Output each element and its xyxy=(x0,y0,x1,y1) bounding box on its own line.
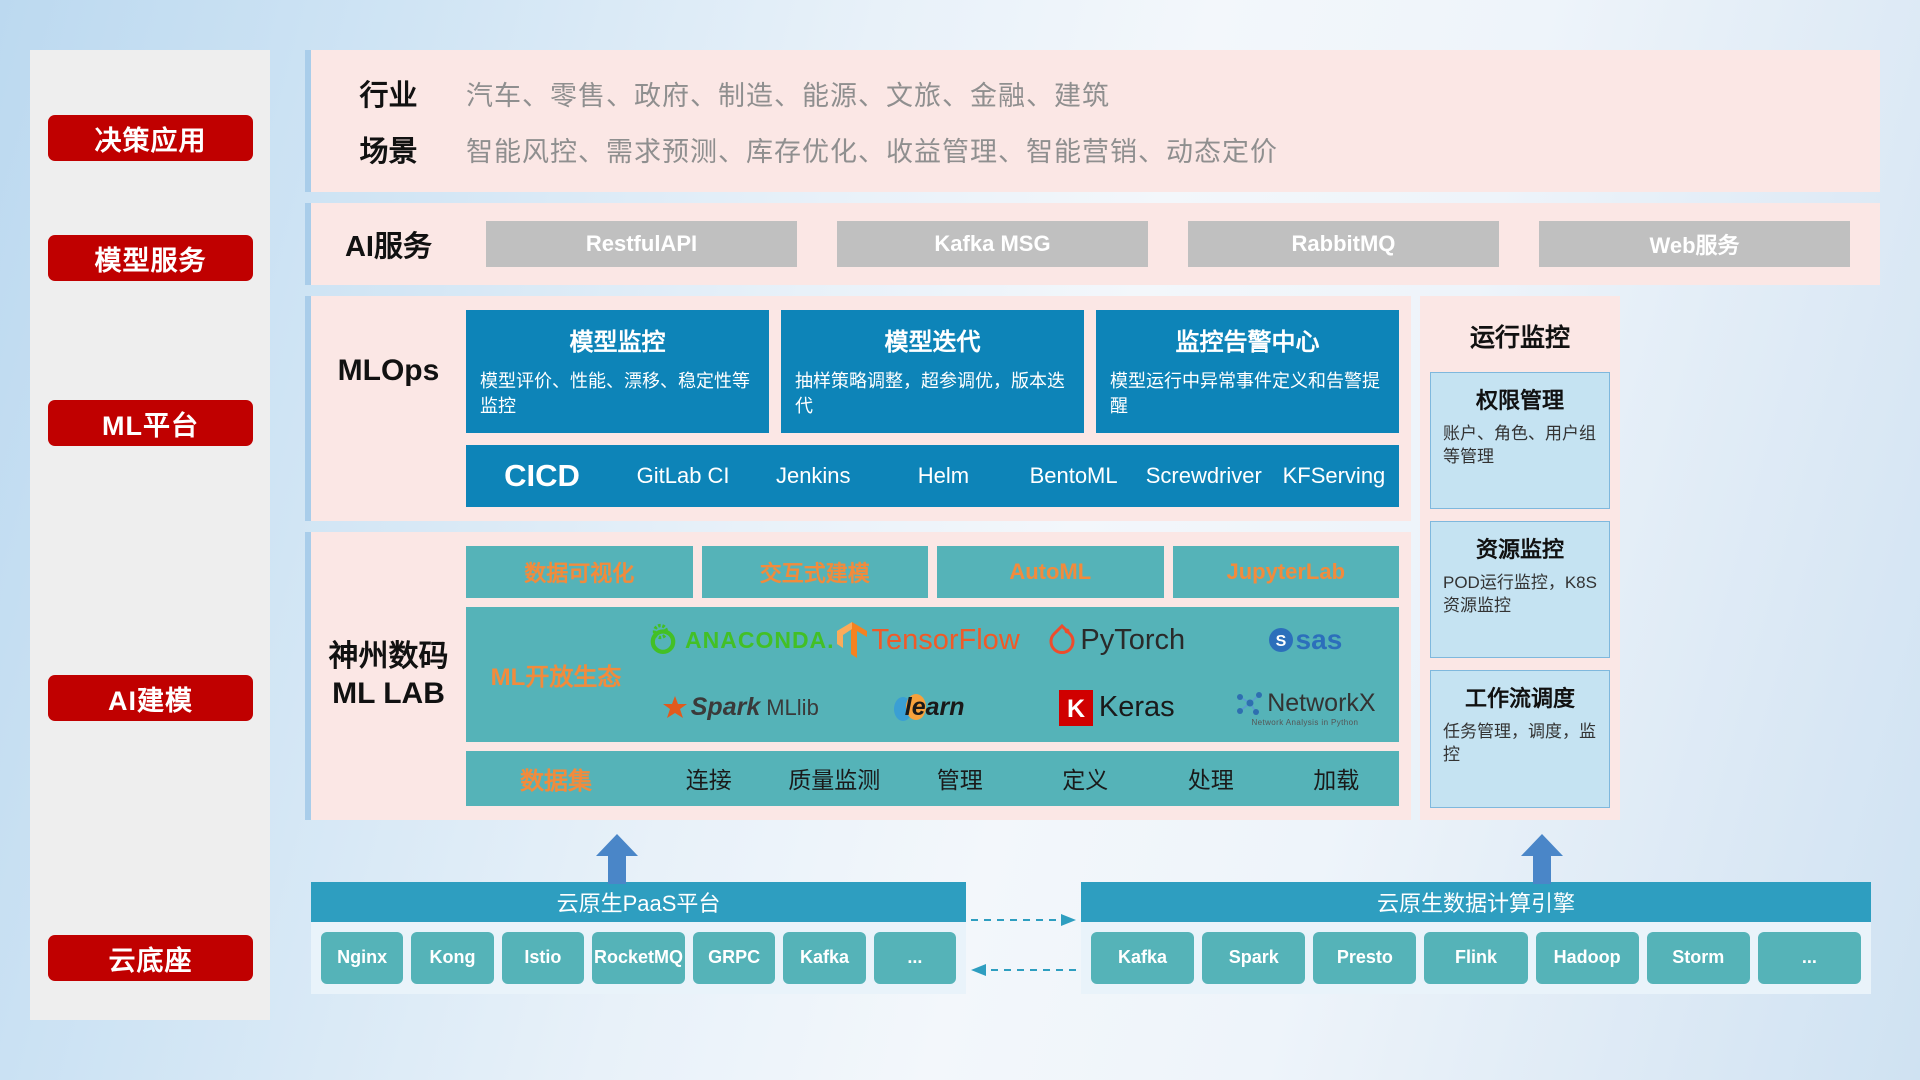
mllib-label: MLlib xyxy=(766,695,819,721)
svg-text:S: S xyxy=(1275,633,1286,650)
sas-logo: S sas xyxy=(1268,624,1343,656)
anaconda-logo: ANACONDA. xyxy=(646,623,835,657)
cloud-base-band: 云原生PaaS平台 Nginx Kong Istio RocketMQ GRPC… xyxy=(305,834,1880,994)
cicd-item[interactable]: BentoML xyxy=(1009,462,1139,490)
monitoring-card[interactable]: 资源监控 POD运行监控，K8S资源监控 xyxy=(1430,521,1610,658)
cloud-data-engine-chip-list: Kafka Spark Presto Flink Hadoop Storm ..… xyxy=(1081,922,1871,994)
cloud-chip[interactable]: Spark xyxy=(1202,932,1305,984)
band-divider xyxy=(305,192,1880,203)
mllab-tool[interactable]: 交互式建模 xyxy=(702,546,929,598)
cicd-row: CICD GitLab CI Jenkins Helm BentoML Scre… xyxy=(466,445,1399,507)
cloud-chip[interactable]: Kong xyxy=(411,932,493,984)
cicd-item[interactable]: Helm xyxy=(878,462,1008,490)
mllab-label-line2: ML LAB xyxy=(329,676,449,713)
monitoring-card[interactable]: 权限管理 账户、角色、用户组等管理 xyxy=(1430,372,1610,509)
ai-service-band: AI服务 RestfulAPI Kafka MSG RabbitMQ Web服务 xyxy=(305,203,1880,285)
monitoring-title: 运行监控 xyxy=(1430,308,1610,360)
tensorflow-logo: TensorFlow xyxy=(837,622,1019,658)
cloud-paas-chip-list: Nginx Kong Istio RocketMQ GRPC Kafka ... xyxy=(311,922,966,994)
keras-logo: K Keras xyxy=(1059,690,1175,726)
mllab-label-line1: 神州数码 xyxy=(329,639,449,676)
monitoring-card-title: 权限管理 xyxy=(1443,383,1597,415)
spark-label: Spark xyxy=(691,693,760,722)
dataset-label: 数据集 xyxy=(466,761,646,796)
mlops-card-title: 模型监控 xyxy=(480,322,755,357)
mlops-card[interactable]: 模型迭代 抽样策略调整，超参调优，版本迭代 xyxy=(781,310,1084,433)
keras-label: Keras xyxy=(1099,691,1175,724)
ml-ecosystem-panel: ML开放生态 ANACONDA. xyxy=(466,607,1399,742)
stage-label: ML平台 xyxy=(102,404,199,443)
pytorch-label: PyTorch xyxy=(1080,624,1185,657)
ai-service-chip[interactable]: Kafka MSG xyxy=(837,221,1148,267)
mllab-label: 神州数码 ML LAB xyxy=(311,546,466,806)
dataset-item[interactable]: 定义 xyxy=(1023,761,1149,795)
networkx-label: NetworkX xyxy=(1267,689,1375,718)
ai-service-chip[interactable]: RabbitMQ xyxy=(1188,221,1499,267)
cloud-chip[interactable]: Hadoop xyxy=(1536,932,1639,984)
ai-service-chip-list: RestfulAPI Kafka MSG RabbitMQ Web服务 xyxy=(466,221,1880,267)
spark-star-icon xyxy=(662,695,688,721)
cloud-data-engine-header: 云原生数据计算引擎 xyxy=(1081,882,1871,922)
cicd-item[interactable]: KFServing xyxy=(1269,462,1399,490)
ai-service-label: AI服务 xyxy=(311,223,466,265)
ai-service-chip[interactable]: RestfulAPI xyxy=(486,221,797,267)
monitoring-card[interactable]: 工作流调度 任务管理，调度，监控 xyxy=(1430,670,1610,807)
up-arrow-icon xyxy=(596,834,638,884)
networkx-icon xyxy=(1234,689,1264,717)
mllab-tool[interactable]: 数据可视化 xyxy=(466,546,693,598)
dataset-item[interactable]: 质量监测 xyxy=(772,761,898,795)
cloud-chip[interactable]: Nginx xyxy=(321,932,403,984)
ai-service-chip[interactable]: Web服务 xyxy=(1539,221,1850,267)
stage-item-decision-apps[interactable]: 决策应用 xyxy=(48,115,253,161)
mllab-tool[interactable]: AutoML xyxy=(937,546,1164,598)
cloud-link-arrows xyxy=(966,874,1081,994)
pytorch-icon xyxy=(1048,624,1076,656)
scikit-learn-logo: learn xyxy=(893,692,965,724)
mllab-row: 神州数码 ML LAB 数据可视化 交互式建模 AutoML JupyterLa… xyxy=(311,546,1411,806)
mlops-cards-row: MLOps 模型监控 模型评价、性能、漂移、稳定性等监控 模型迭代 抽样策略调整… xyxy=(311,310,1411,433)
stage-label: 决策应用 xyxy=(95,119,207,158)
ml-ecosystem-logo-grid: ANACONDA. TensorFlow xyxy=(646,607,1399,742)
application-row-industry: 行业 汽车、零售、政府、制造、能源、文旅、金融、建筑 xyxy=(311,72,1880,114)
ml-ecosystem-label: ML开放生态 xyxy=(466,657,646,692)
mlops-block: MLOps 模型监控 模型评价、性能、漂移、稳定性等监控 模型迭代 抽样策略调整… xyxy=(305,296,1411,521)
tensorflow-icon xyxy=(837,622,867,658)
cicd-item[interactable]: Jenkins xyxy=(748,462,878,490)
svg-text:K: K xyxy=(1067,695,1085,723)
monitoring-panel: 运行监控 权限管理 账户、角色、用户组等管理 资源监控 POD运行监控，K8S资… xyxy=(1420,296,1620,820)
monitoring-card-desc: 任务管理，调度，监控 xyxy=(1443,721,1597,767)
monitoring-card-title: 资源监控 xyxy=(1443,532,1597,564)
platform-band: MLOps 模型监控 模型评价、性能、漂移、稳定性等监控 模型迭代 抽样策略调整… xyxy=(305,296,1880,820)
cloud-chip[interactable]: Istio xyxy=(502,932,584,984)
anaconda-icon xyxy=(646,623,680,657)
mllab-content: 数据可视化 交互式建模 AutoML JupyterLab ML开放生态 xyxy=(466,546,1411,806)
monitoring-card-desc: 账户、角色、用户组等管理 xyxy=(1443,423,1597,469)
monitoring-card-title: 工作流调度 xyxy=(1443,681,1597,713)
cloud-chip[interactable]: Kafka xyxy=(1091,932,1194,984)
cloud-chip[interactable]: GRPC xyxy=(693,932,775,984)
cloud-chip[interactable]: RocketMQ xyxy=(592,932,685,984)
scenario-values: 智能风控、需求预测、库存优化、收益管理、智能营销、动态定价 xyxy=(466,130,1278,169)
scikit-learn-label: learn xyxy=(905,693,965,722)
dataset-item[interactable]: 加载 xyxy=(1274,761,1400,795)
mlops-card[interactable]: 监控告警中心 模型运行中异常事件定义和告警提醒 xyxy=(1096,310,1399,433)
stage-label: 模型服务 xyxy=(95,239,207,278)
dataset-item[interactable]: 连接 xyxy=(646,761,772,795)
stage-column: 决策应用 模型服务 ML平台 AI建模 云底座 xyxy=(30,50,270,1020)
up-arrow-icon xyxy=(1521,834,1563,884)
cicd-item[interactable]: Screwdriver xyxy=(1139,462,1269,490)
cloud-chip[interactable]: Presto xyxy=(1313,932,1416,984)
dataset-item[interactable]: 处理 xyxy=(1148,761,1274,795)
mllab-block: 神州数码 ML LAB 数据可视化 交互式建模 AutoML JupyterLa… xyxy=(305,532,1411,820)
pytorch-logo: PyTorch xyxy=(1048,624,1185,657)
dataset-row: 数据集 连接 质量监测 管理 定义 处理 加载 xyxy=(466,751,1399,806)
applications-band: 行业 汽车、零售、政府、制造、能源、文旅、金融、建筑 场景 智能风控、需求预测、… xyxy=(305,50,1880,192)
cicd-title: CICD xyxy=(466,458,618,494)
mlops-card-desc: 模型运行中异常事件定义和告警提醒 xyxy=(1110,369,1385,419)
networkx-logo: NetworkX Network Analysis in Python xyxy=(1234,689,1375,727)
cicd-item[interactable]: GitLab CI xyxy=(618,462,748,490)
networkx-tagline: Network Analysis in Python xyxy=(1251,718,1358,727)
industry-values: 汽车、零售、政府、制造、能源、文旅、金融、建筑 xyxy=(466,74,1110,113)
mllab-tool-list: 数据可视化 交互式建模 AutoML JupyterLab xyxy=(466,546,1399,598)
cloud-chip[interactable]: Flink xyxy=(1424,932,1527,984)
cloud-data-engine-group: 云原生数据计算引擎 Kafka Spark Presto Flink Hadoo… xyxy=(1081,882,1871,994)
cloud-chip[interactable]: ... xyxy=(874,932,956,984)
application-row-scenario: 场景 智能风控、需求预测、库存优化、收益管理、智能营销、动态定价 xyxy=(311,128,1880,170)
cloud-chip[interactable]: Storm xyxy=(1647,932,1750,984)
mlops-card[interactable]: 模型监控 模型评价、性能、漂移、稳定性等监控 xyxy=(466,310,769,433)
monitoring-column: 运行监控 权限管理 账户、角色、用户组等管理 资源监控 POD运行监控，K8S资… xyxy=(1420,296,1620,820)
mlops-card-title: 模型迭代 xyxy=(795,322,1070,357)
architecture-diagram: 行业 汽车、零售、政府、制造、能源、文旅、金融、建筑 场景 智能风控、需求预测、… xyxy=(305,50,1880,994)
anaconda-label: ANACONDA. xyxy=(685,627,835,654)
stage-item-ai-modeling[interactable]: AI建模 xyxy=(48,675,253,721)
spark-mllib-logo: Spark MLlib xyxy=(662,693,819,722)
sas-label: sas xyxy=(1296,624,1343,656)
industry-label: 行业 xyxy=(311,72,466,114)
cloud-chip[interactable]: Kafka xyxy=(783,932,865,984)
cloud-chip[interactable]: ... xyxy=(1758,932,1861,984)
mlops-card-desc: 模型评价、性能、漂移、稳定性等监控 xyxy=(480,369,755,419)
sas-icon: S xyxy=(1268,627,1294,653)
mlops-label: MLOps xyxy=(311,310,466,433)
dataset-item[interactable]: 管理 xyxy=(897,761,1023,795)
mllab-tool[interactable]: JupyterLab xyxy=(1173,546,1400,598)
tensorflow-label: TensorFlow xyxy=(871,624,1019,657)
stage-item-model-service[interactable]: 模型服务 xyxy=(48,235,253,281)
monitoring-card-desc: POD运行监控，K8S资源监控 xyxy=(1443,572,1597,618)
mlops-card-list: 模型监控 模型评价、性能、漂移、稳定性等监控 模型迭代 抽样策略调整，超参调优，… xyxy=(466,310,1411,433)
keras-icon: K xyxy=(1059,690,1093,726)
bidirectional-dashed-arrows-icon xyxy=(966,874,1081,994)
scenario-label: 场景 xyxy=(311,128,466,170)
mlops-card-title: 监控告警中心 xyxy=(1110,322,1385,357)
cloud-paas-group: 云原生PaaS平台 Nginx Kong Istio RocketMQ GRPC… xyxy=(311,882,966,994)
stage-label: AI建模 xyxy=(108,679,193,718)
mlops-card-desc: 抽样策略调整，超参调优，版本迭代 xyxy=(795,369,1070,419)
platform-left-column: MLOps 模型监控 模型评价、性能、漂移、稳定性等监控 模型迭代 抽样策略调整… xyxy=(305,296,1411,820)
stage-item-cloud-base[interactable]: 云底座 xyxy=(48,935,253,981)
stage-item-ml-platform[interactable]: ML平台 xyxy=(48,400,253,446)
cloud-paas-header: 云原生PaaS平台 xyxy=(311,882,966,922)
stage-label: 云底座 xyxy=(109,939,193,978)
